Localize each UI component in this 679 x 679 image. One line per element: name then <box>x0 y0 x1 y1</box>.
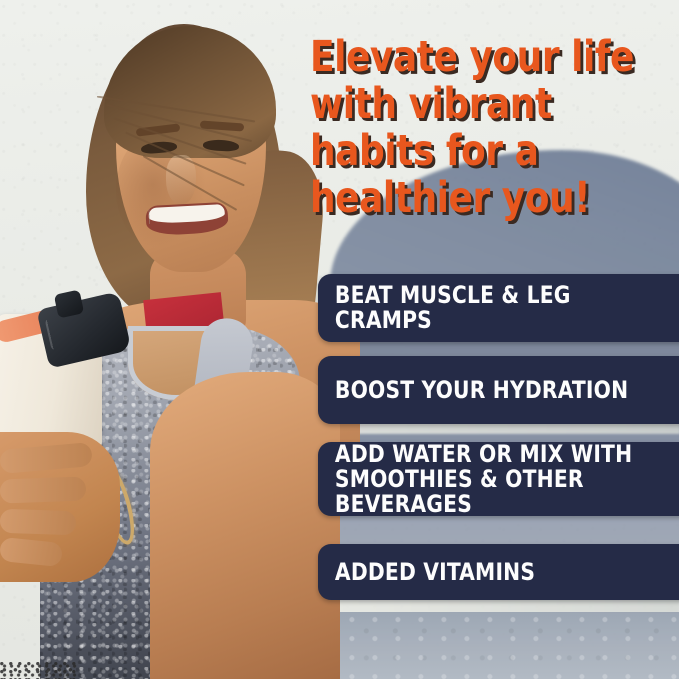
feature-bars: BEAT MUSCLE & LEG CRAMPS BOOST YOUR HYDR… <box>0 0 679 679</box>
feature-bar-label: BOOST YOUR HYDRATION <box>318 378 638 403</box>
feature-bar-label: ADD WATER OR MIX WITH SMOOTHIES & OTHER … <box>318 442 671 517</box>
feature-bar-vitamins: ADDED VITAMINS <box>318 544 679 600</box>
feature-bar-label: BEAT MUSCLE & LEG CRAMPS <box>318 283 671 333</box>
feature-bar-hydration: BOOST YOUR HYDRATION <box>318 356 679 424</box>
feature-bar-mix-options: ADD WATER OR MIX WITH SMOOTHIES & OTHER … <box>318 442 679 516</box>
promo-poster: Elevate your life with vibrant habits fo… <box>0 0 679 679</box>
feature-bar-beat-cramps: BEAT MUSCLE & LEG CRAMPS <box>318 274 679 342</box>
feature-bar-label: ADDED VITAMINS <box>318 560 545 585</box>
